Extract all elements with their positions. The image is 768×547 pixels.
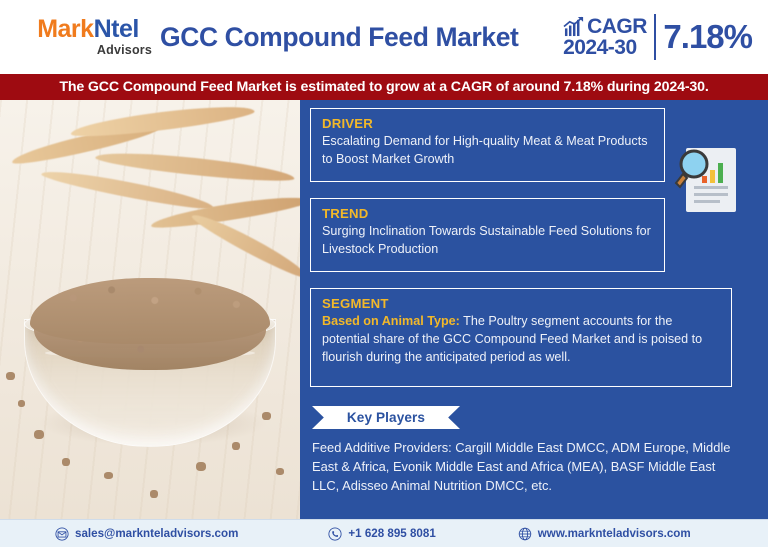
email-icon	[55, 527, 69, 541]
cagr-divider	[654, 14, 657, 60]
trend-heading: TREND	[322, 206, 653, 221]
footer-phone-text: +1 628 895 8081	[348, 527, 435, 540]
phone-icon	[328, 527, 342, 541]
key-players-ribbon: Key Players	[312, 406, 460, 429]
footer-website[interactable]: www.marknteladvisors.com	[518, 527, 691, 541]
feed-bowl	[24, 272, 276, 447]
feed-crumb	[150, 490, 158, 498]
feed-crumb	[6, 372, 15, 380]
feed-crumb	[34, 430, 44, 439]
cagr-label: CAGR	[587, 16, 647, 37]
segment-box: SEGMENT Based on Animal Type: The Poultr…	[310, 288, 732, 387]
brand-logo[interactable]: MarkNtel Advisors	[22, 17, 154, 57]
product-photo	[0, 100, 300, 519]
cagr-label-row: CAGR	[563, 16, 647, 37]
driver-body: Escalating Demand for High-quality Meat …	[322, 133, 653, 169]
feed-crumb	[104, 472, 113, 479]
segment-heading: SEGMENT	[322, 296, 720, 311]
logo-text-mark: Mark	[37, 15, 93, 43]
driver-heading: DRIVER	[322, 116, 653, 131]
header-bar: MarkNtel Advisors GCC Compound Feed Mark…	[0, 0, 768, 74]
feed-crumb	[262, 412, 271, 420]
infographic-page: MarkNtel Advisors GCC Compound Feed Mark…	[0, 0, 768, 547]
feed-pellets-mound	[30, 278, 270, 344]
feed-crumb	[276, 468, 284, 475]
cagr-block: CAGR 2024-30 7.18%	[563, 14, 752, 60]
cagr-text-group: CAGR 2024-30	[563, 16, 647, 58]
footer-email-text: sales@marknteladvisors.com	[75, 527, 238, 540]
logo-text-ntel: Ntel	[94, 15, 139, 43]
document-magnifier-chart-icon	[672, 138, 748, 218]
trend-body: Surging Inclination Towards Sustainable …	[322, 223, 653, 259]
segment-body: Based on Animal Type: The Poultry segmen…	[322, 313, 720, 367]
page-title: GCC Compound Feed Market	[160, 22, 563, 53]
segment-lead: Based on Animal Type:	[322, 314, 460, 328]
cagr-years: 2024-30	[563, 37, 647, 58]
feed-crumb	[18, 400, 25, 407]
driver-box: DRIVER Escalating Demand for High-qualit…	[310, 108, 665, 182]
headline-banner: The GCC Compound Feed Market is estimate…	[0, 74, 768, 100]
bar-chart-growth-icon	[563, 16, 586, 37]
cagr-value: 7.18%	[663, 18, 752, 56]
footer-phone[interactable]: +1 628 895 8081	[328, 527, 435, 541]
key-players-text: Feed Additive Providers: Cargill Middle …	[312, 438, 736, 495]
logo-wordmark: MarkNtel	[37, 17, 139, 42]
trend-box: TREND Surging Inclination Towards Sustai…	[310, 198, 665, 272]
feed-crumb	[62, 458, 70, 466]
footer-bar: sales@marknteladvisors.com +1 628 895 80…	[0, 519, 768, 547]
logo-tagline: Advisors	[97, 44, 152, 57]
content-panel: DRIVER Escalating Demand for High-qualit…	[300, 100, 768, 519]
feed-crumb	[196, 462, 206, 471]
footer-email[interactable]: sales@marknteladvisors.com	[55, 527, 238, 541]
feed-crumb	[232, 442, 240, 450]
footer-website-text: www.marknteladvisors.com	[538, 527, 691, 540]
globe-icon	[518, 527, 532, 541]
